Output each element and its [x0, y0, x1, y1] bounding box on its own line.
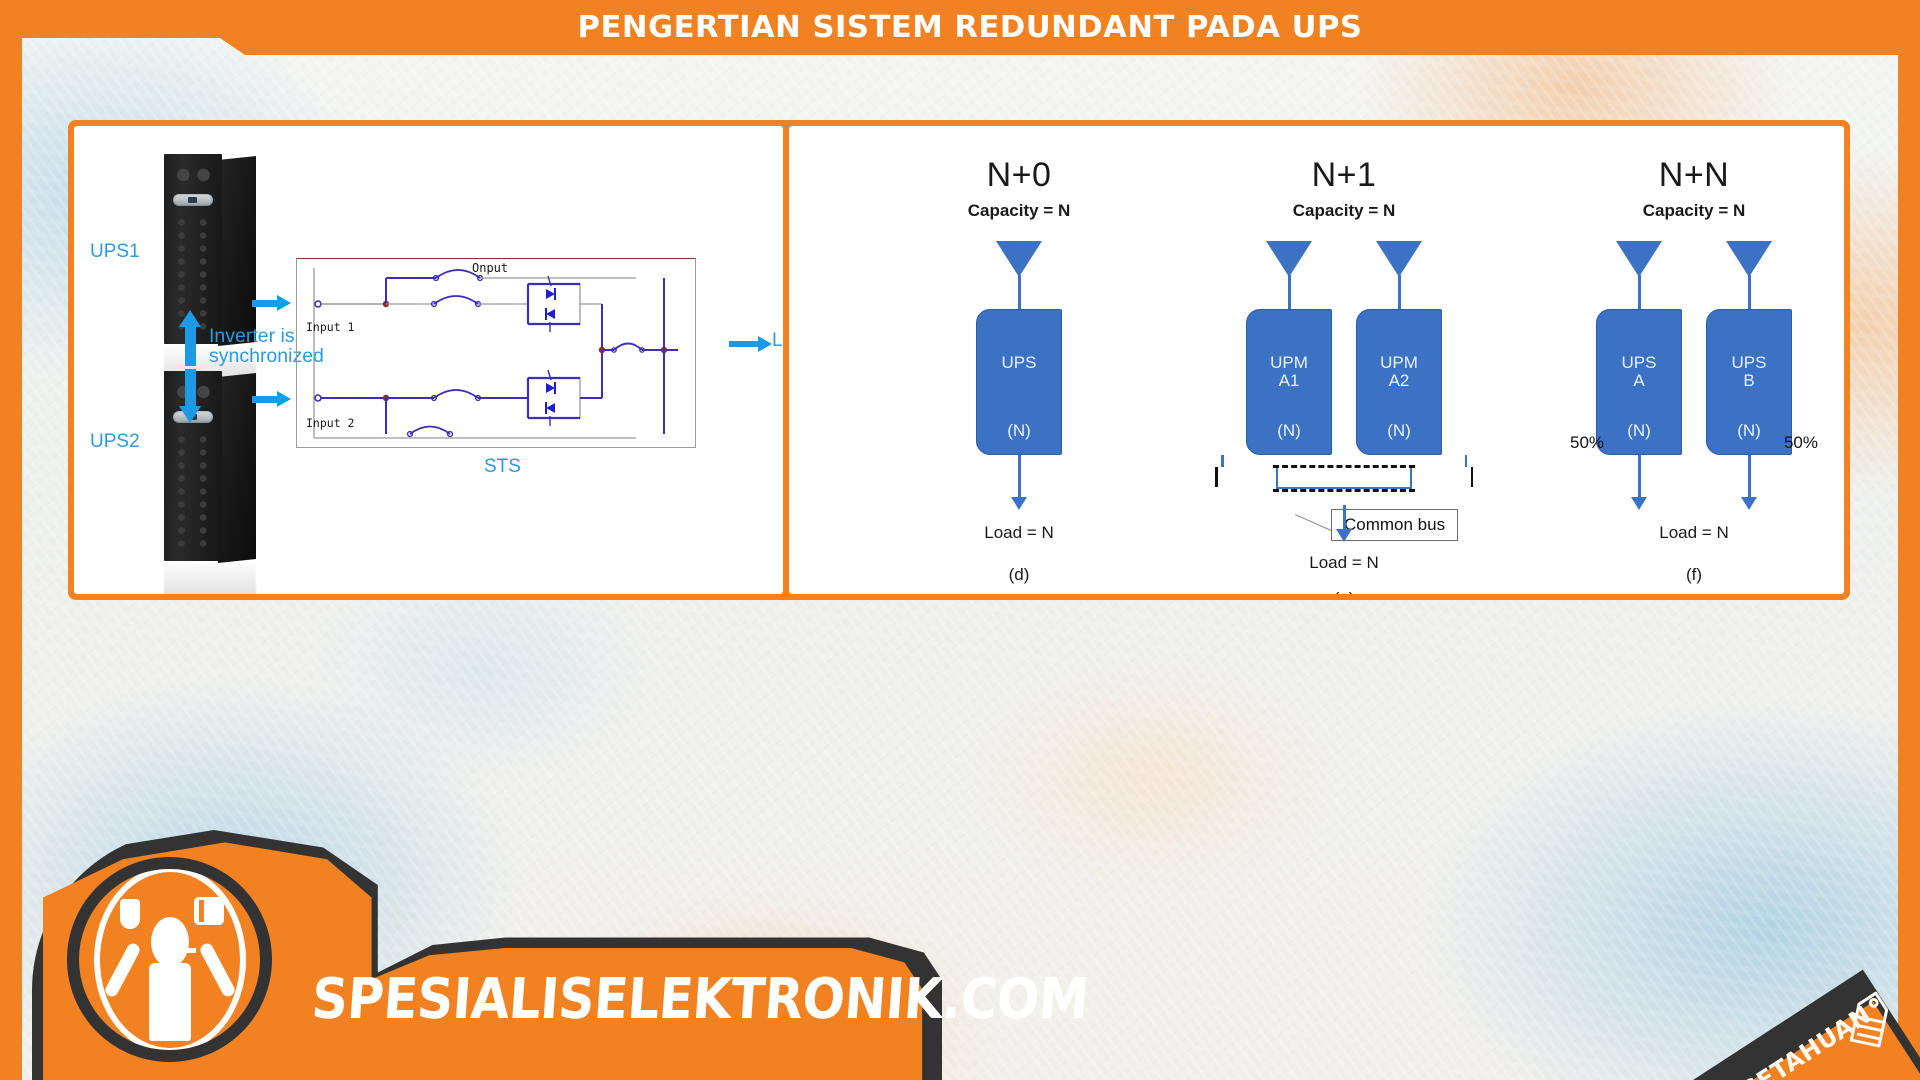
ups-box: UPS (N): [976, 309, 1062, 455]
unit-block: UPS A (N) 50%: [1596, 241, 1682, 499]
load-text: Load = N: [1549, 523, 1839, 543]
ups1-cabinet-image: [164, 154, 256, 344]
ups-box-name: UPS B: [1732, 354, 1767, 391]
topology-capacity: Capacity = N: [1549, 201, 1839, 221]
figure-head: [151, 917, 189, 967]
figure-caption: (d): [889, 565, 1149, 585]
unit-block: UPS (N): [976, 241, 1062, 499]
unit-row: UPS A (N) 50% UPS B (N) 50%: [1549, 241, 1839, 499]
unit-row: UPS (N): [889, 241, 1149, 499]
topology-capacity: Capacity = N: [1199, 201, 1489, 221]
cabinet-side-panel: [218, 373, 256, 563]
topology-title: N+1: [1199, 156, 1489, 195]
bus-dash-bottom: [1273, 489, 1415, 492]
source-funnel-icon: [996, 241, 1042, 277]
load-share-left: 50%: [1570, 433, 1604, 453]
cabinet-display: [173, 194, 213, 206]
bus-stub-left: [1221, 455, 1224, 467]
cabinet-side-panel: [218, 156, 256, 346]
cabinet-grille: [171, 162, 215, 188]
source-funnel-icon: [1376, 241, 1422, 277]
load-label: Load: [772, 330, 783, 352]
source-funnel-icon: [1266, 241, 1312, 277]
funnel-stem: [1018, 275, 1021, 309]
bus-tick-right: [1471, 467, 1474, 487]
figure-body: [149, 963, 191, 1041]
topology-title: N+0: [889, 156, 1149, 195]
unit-block: UPM A1 (N): [1246, 241, 1332, 455]
page-title: PENGERTIAN SISTEM REDUNDANT PADA UPS: [557, 10, 1362, 45]
figure-caption: (e): [1199, 589, 1489, 594]
category-ribbon[interactable]: PENGETAHUAN: [1590, 870, 1920, 1080]
ups-box: UPM A2 (N): [1356, 309, 1442, 455]
topology-capacity: Capacity = N: [889, 201, 1149, 221]
plug-socket-icon: [194, 897, 224, 925]
sts-label: STS: [484, 456, 521, 478]
page-edge-left: [0, 0, 22, 1080]
ups-box: UPS B (N): [1706, 309, 1792, 455]
ups-box-capacity: (N): [1387, 422, 1411, 440]
plug-prong-icon: [120, 899, 140, 929]
ups2-label: UPS2: [90, 431, 140, 453]
input2-arrow-icon: [252, 396, 278, 403]
electrician-icon: [110, 891, 230, 1041]
output-arrow-icon: [1343, 505, 1346, 531]
funnel-stem: [1398, 275, 1401, 309]
bus-dash-top: [1273, 465, 1415, 468]
funnel-stem: [1638, 275, 1641, 309]
site-logo[interactable]: [67, 857, 272, 1062]
arrow-up-icon: [185, 326, 196, 366]
header-title-wrap: PENGERTIAN SISTEM REDUNDANT PADA UPS: [0, 0, 1920, 55]
ups2-cabinet-image: [164, 371, 256, 561]
load-text: Load = N: [1199, 553, 1489, 573]
funnel-stem: [1748, 275, 1751, 309]
common-bus-graphic: Common bus: [1199, 455, 1489, 501]
footer-brand-block: SPESIALISELEKTRONIK.COM: [22, 820, 952, 1080]
cabinet-vents: [170, 433, 216, 551]
content-frame: UPS1 UPS2 Inverter is synchronized: [68, 120, 1850, 600]
circuit-input2-label: Input 2: [306, 416, 354, 430]
ups-box-name: UPM A2: [1380, 354, 1418, 391]
load-text: Load = N: [889, 523, 1149, 543]
ups1-label: UPS1: [90, 241, 140, 263]
site-name[interactable]: SPESIALISELEKTRONIK.COM: [310, 967, 1091, 1032]
topology-group-n-plus-1: N+1 Capacity = N UPM A1 (N) UPM A2: [1199, 156, 1489, 594]
ups-box: UPM A1 (N): [1246, 309, 1332, 455]
ups-box-capacity: (N): [1627, 422, 1651, 440]
ups-box: UPS A (N): [1596, 309, 1682, 455]
ups-box-name: UPM A1: [1270, 354, 1308, 391]
funnel-stem: [1288, 275, 1291, 309]
bus-tick-left: [1215, 467, 1218, 487]
ups-box-name: UPS A: [1622, 354, 1657, 391]
cabinet-reflection: [164, 561, 256, 594]
source-funnel-icon: [1616, 241, 1662, 277]
ups-box-name: UPS: [1002, 354, 1037, 372]
topology-title: N+N: [1549, 156, 1839, 195]
sts-circuit-diagram: Onput Input 1 Input 2: [296, 258, 696, 448]
unit-row: UPM A1 (N) UPM A2 (N): [1199, 241, 1489, 455]
panel-redundancy-topologies: N+0 Capacity = N UPS (N) Load = N (d) N+…: [789, 126, 1844, 594]
circuit-schematic-svg: [296, 258, 696, 448]
load-share-right: 50%: [1784, 433, 1818, 453]
input1-arrow-icon: [252, 300, 278, 307]
topology-group-n-plus-0: N+0 Capacity = N UPS (N) Load = N (d): [889, 156, 1149, 585]
output-arrow-icon: [1748, 455, 1751, 499]
figure-caption: (f): [1549, 565, 1839, 585]
circuit-input1-label: Input 1: [306, 320, 354, 334]
source-funnel-icon: [1726, 241, 1772, 277]
ups-box-capacity: (N): [1277, 422, 1301, 440]
circuit-output-label: Onput: [472, 261, 508, 275]
load-arrow-icon: [729, 341, 759, 347]
panel-parallel-ups-diagram: UPS1 UPS2 Inverter is synchronized: [74, 126, 783, 594]
unit-block: UPS B (N) 50%: [1706, 241, 1792, 499]
ups-box-capacity: (N): [1007, 422, 1031, 440]
bus-stub-right: [1465, 455, 1468, 467]
bus-solid-rail: [1276, 467, 1412, 489]
output-arrow-icon: [1018, 455, 1021, 499]
arrow-down-icon: [185, 369, 196, 407]
output-arrow-icon: [1638, 455, 1641, 499]
unit-block: UPM A2 (N): [1356, 241, 1442, 455]
ups-box-capacity: (N): [1737, 422, 1761, 440]
topology-group-n-plus-n: N+N Capacity = N UPS A (N) 50%: [1549, 156, 1839, 585]
